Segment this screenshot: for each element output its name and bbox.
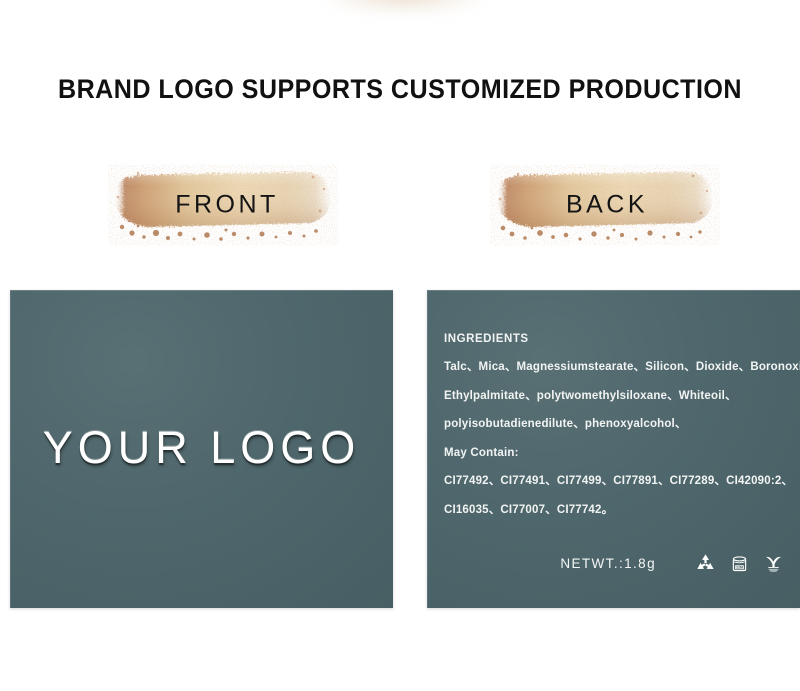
ingredients-block: INGREDIENTS Talc、Mica、Magnessiumstearate… — [444, 333, 784, 516]
back-card-footer: NETWT.:1.8g 12M — [444, 553, 784, 574]
period-after-opening-jar-icon: 12M — [729, 553, 750, 574]
net-weight-text: NETWT.:1.8g — [560, 556, 656, 571]
green-dot-icon — [763, 553, 784, 574]
may-contain-line: CI16035、CI77007、CI77742。 — [444, 505, 784, 517]
ingredients-line: Talc、Mica、Magnessiumstearate、Silicon、Dio… — [444, 362, 784, 374]
may-contain-heading: May Contain: — [444, 448, 784, 460]
may-contain-line: CI77492、CI77491、CI77499、CI77891、CI77289、… — [444, 476, 784, 488]
ingredients-line: Ethylpalmitate、polytwomethylsiloxane、Whi… — [444, 391, 784, 403]
back-product-card: INGREDIENTS Talc、Mica、Magnessiumstearate… — [427, 290, 800, 608]
back-swatch: BACK — [490, 163, 720, 247]
svg-text:12M: 12M — [736, 565, 743, 569]
front-swatch: FRONT — [108, 163, 338, 247]
ingredients-line: polyisobutadienedilute、phenoxyalcohol、 — [444, 419, 784, 431]
page-headline: BRAND LOGO SUPPORTS CUSTOMIZED PRODUCTIO… — [28, 74, 772, 105]
front-product-card: YOUR LOGO — [10, 290, 393, 608]
top-powder-smudge — [290, 0, 520, 20]
recycling-icon — [695, 553, 716, 574]
ingredients-heading: INGREDIENTS — [444, 333, 784, 345]
your-logo-placeholder: YOUR LOGO — [10, 422, 393, 474]
front-swatch-label: FRONT — [108, 191, 342, 220]
regulatory-symbols: 12M — [695, 553, 784, 574]
back-swatch-label: BACK — [490, 191, 722, 220]
